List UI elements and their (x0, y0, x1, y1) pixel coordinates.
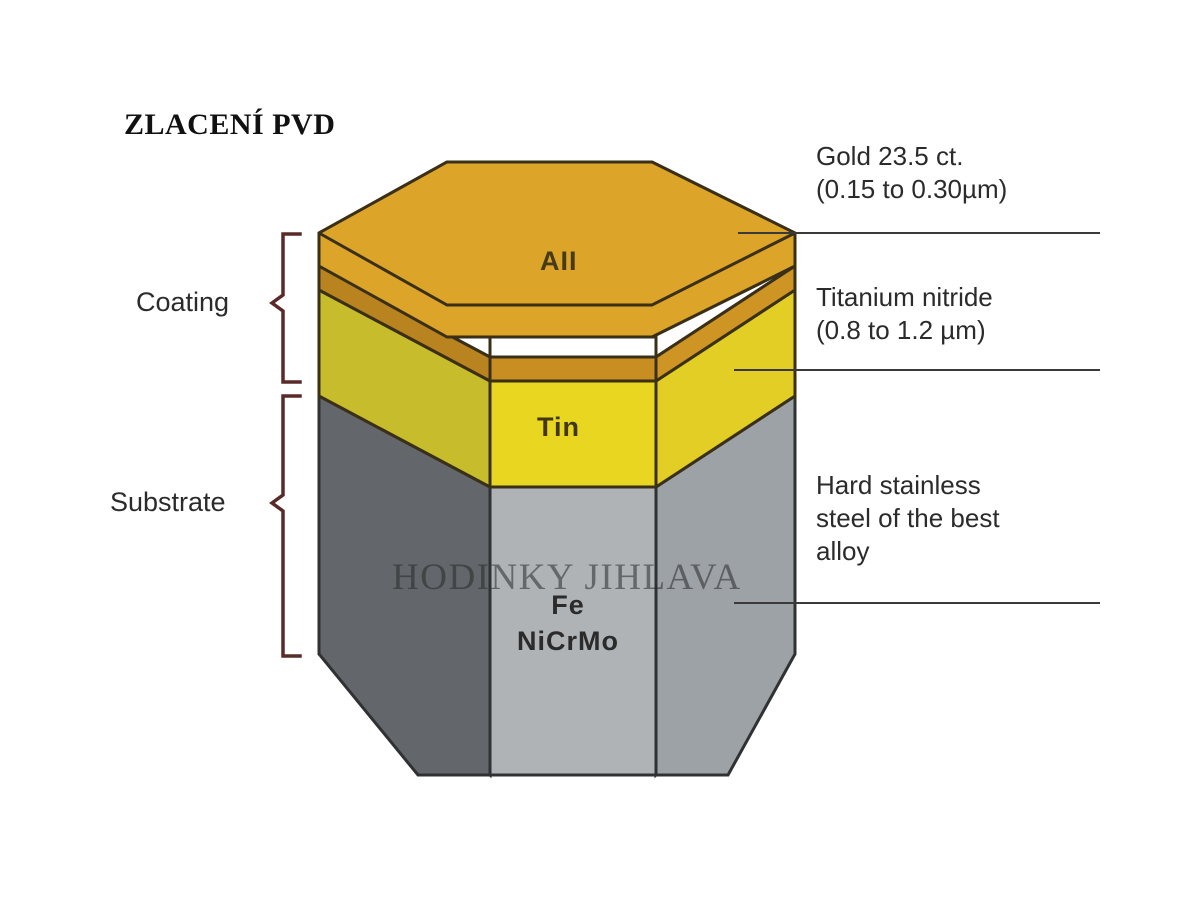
layer-label-steel-line2: NiCrMo (498, 623, 638, 659)
layer-label-steel-line1: Fe (498, 587, 638, 623)
callout-gold-line2: (0.15 to 0.30µm) (816, 173, 1007, 206)
page-title: ZLACENÍ PVD (124, 108, 335, 142)
coating-bracket-path (272, 234, 300, 382)
bracket-label-coating: Coating (136, 287, 229, 318)
bracket-label-substrate: Substrate (110, 487, 226, 518)
layer-label-tin: Tin (537, 412, 580, 443)
gold-cap-front-notch-right (652, 337, 656, 357)
substrate-bracket (272, 396, 300, 656)
callout-titanium-nitride: Titanium nitride (0.8 to 1.2 µm) (816, 281, 993, 347)
callout-steel-line3: alloy (816, 535, 1000, 568)
callout-gold: Gold 23.5 ct. (0.15 to 0.30µm) (816, 140, 1007, 206)
coating-bracket (272, 234, 300, 382)
substrate-bracket-path (272, 396, 300, 656)
layer-label-gold: AII (540, 246, 578, 277)
gold-front-edge-face-top (490, 357, 656, 381)
diagram-canvas: ZLACENÍ PVD Coating Substrate Gold 23.5 … (0, 0, 1200, 900)
callout-steel-line2: steel of the best (816, 502, 1000, 535)
callout-steel-line1: Hard stainless (816, 469, 1000, 502)
layer-label-steel: Fe NiCrMo (498, 587, 638, 659)
callout-tin-line2: (0.8 to 1.2 µm) (816, 314, 993, 347)
callout-stainless-steel: Hard stainless steel of the best alloy (816, 469, 1000, 568)
callout-gold-line1: Gold 23.5 ct. (816, 140, 1007, 173)
callout-tin-line1: Titanium nitride (816, 281, 993, 314)
